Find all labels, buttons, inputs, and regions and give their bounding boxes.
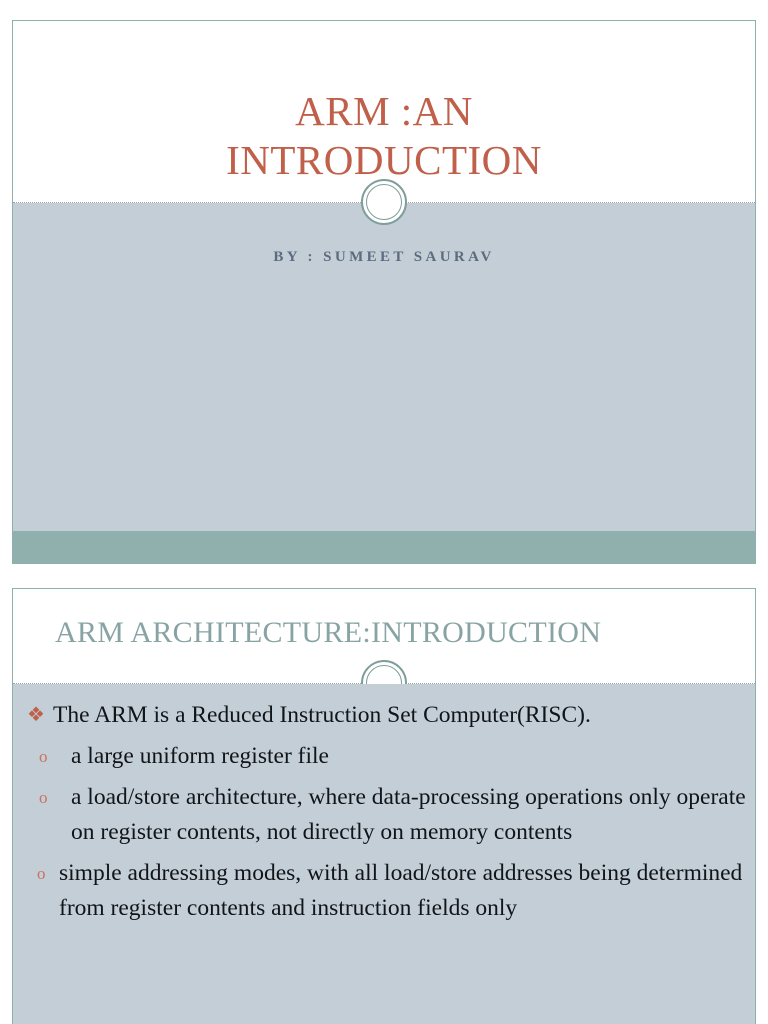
bullet-text: a large uniform register file (71, 743, 329, 769)
presentation-title: ARM :AN INTRODUCTION (53, 87, 715, 185)
circle-ornament-icon (361, 179, 407, 225)
bullet-item: o a load/store architecture, where data-… (25, 780, 751, 850)
presentation-author: BY : SUMEET SAURAV (53, 249, 715, 266)
slide-heading: ARM ARCHITECTURE:INTRODUCTION (55, 615, 735, 651)
content-slide-body: ❖ The ARM is a Reduced Instruction Set C… (13, 684, 755, 1024)
title-slide-footer-band (13, 531, 755, 563)
diamond-bullet-icon: ❖ (27, 698, 45, 733)
title-slide-lower-panel: BY : SUMEET SAURAV (13, 203, 755, 531)
bullet-text: simple addressing modes, with all load/s… (59, 860, 742, 921)
slide-title: ARM :AN INTRODUCTION BY : SUMEET SAURAV (12, 20, 756, 564)
circle-bullet-icon: o (39, 739, 48, 774)
title-slide-upper-panel: ARM :AN INTRODUCTION (13, 21, 755, 202)
circle-bullet-icon: o (37, 856, 46, 891)
circle-bullet-icon: o (39, 780, 48, 815)
bullet-item: o a large uniform register file (25, 739, 751, 774)
slide-deck: ARM :AN INTRODUCTION BY : SUMEET SAURAV … (0, 0, 768, 1024)
bullet-text: The ARM is a Reduced Instruction Set Com… (53, 702, 591, 728)
bullet-item: ❖ The ARM is a Reduced Instruction Set C… (25, 698, 751, 733)
slide-arm-architecture-introduction: ARM ARCHITECTURE:INTRODUCTION ❖ The ARM … (12, 588, 756, 1024)
bullet-item: o simple addressing modes, with all load… (25, 856, 751, 926)
bullet-text: a load/store architecture, where data-pr… (71, 784, 746, 845)
